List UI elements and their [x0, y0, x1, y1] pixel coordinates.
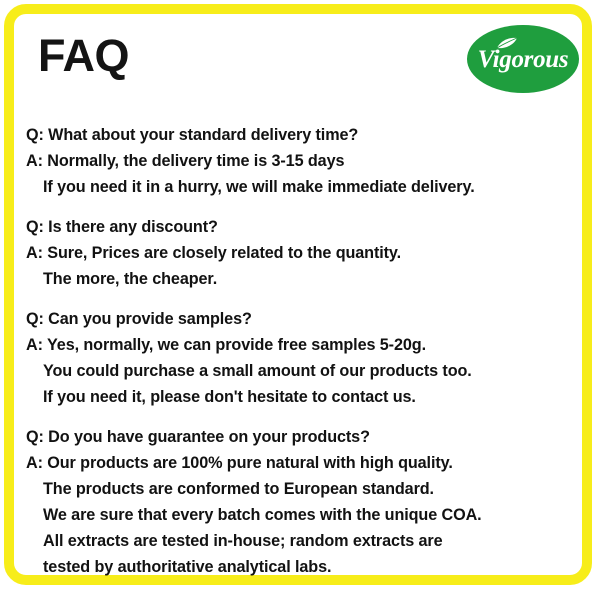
faq-question: Q: Is there any discount? — [26, 214, 578, 240]
faq-block: Q: Do you have guarantee on your product… — [26, 424, 578, 580]
faq-answer-continuation: tested by authoritative analytical labs. — [26, 554, 578, 580]
page-title: FAQ — [38, 33, 129, 78]
faq-question: Q: Can you provide samples? — [26, 306, 578, 332]
faq-answer-continuation: All extracts are tested in-house; random… — [26, 528, 578, 554]
faq-banner: FAQ Vigorous Q: What about your standard… — [0, 0, 600, 600]
brand-logo: Vigorous — [467, 25, 579, 93]
faq-answer-continuation: If you need it in a hurry, we will make … — [26, 174, 578, 200]
faq-answer-continuation: The more, the cheaper. — [26, 266, 578, 292]
faq-answer: A: Sure, Prices are closely related to t… — [26, 240, 578, 266]
logo-wordmark: Vigorous — [467, 25, 579, 93]
faq-block: Q: Can you provide samples?A: Yes, norma… — [26, 306, 578, 410]
faq-question: Q: Do you have guarantee on your product… — [26, 424, 578, 450]
faq-answer-continuation: The products are conformed to European s… — [26, 476, 578, 502]
faq-question: Q: What about your standard delivery tim… — [26, 122, 578, 148]
leaf-icon — [496, 37, 518, 50]
faq-answer-continuation: We are sure that every batch comes with … — [26, 502, 578, 528]
faq-answer: A: Yes, normally, we can provide free sa… — [26, 332, 578, 358]
faq-block: Q: What about your standard delivery tim… — [26, 122, 578, 200]
faq-answer-continuation: If you need it, please don't hesitate to… — [26, 384, 578, 410]
faq-block: Q: Is there any discount?A: Sure, Prices… — [26, 214, 578, 292]
faq-content: Q: What about your standard delivery tim… — [26, 122, 578, 580]
faq-answer: A: Our products are 100% pure natural wi… — [26, 450, 578, 476]
faq-answer-continuation: You could purchase a small amount of our… — [26, 358, 578, 384]
header: FAQ Vigorous — [0, 0, 600, 110]
faq-answer: A: Normally, the delivery time is 3-15 d… — [26, 148, 578, 174]
